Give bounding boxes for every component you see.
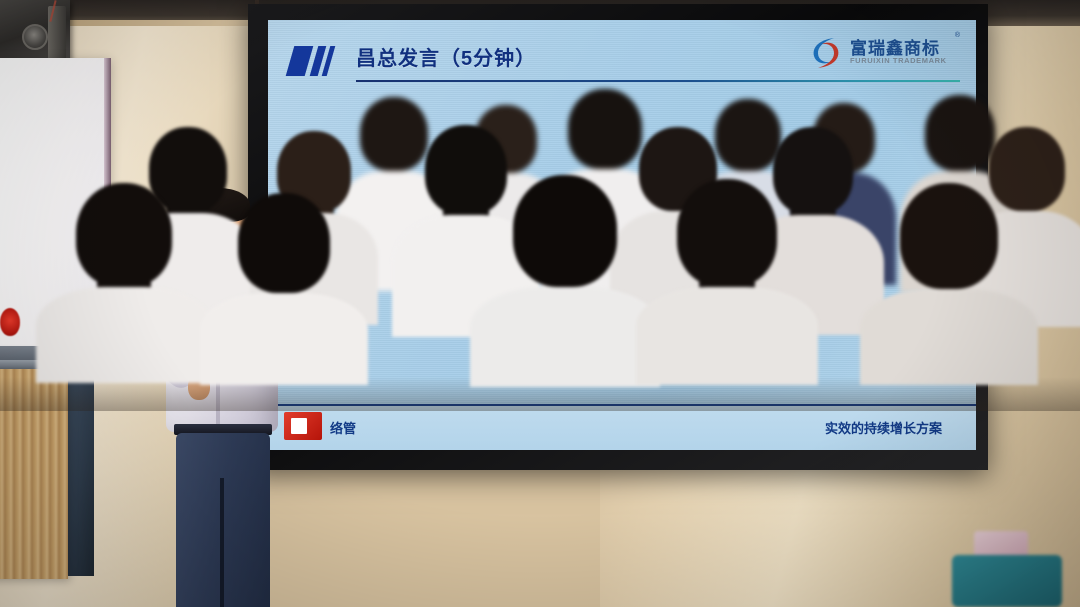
attendee-head: [900, 183, 998, 289]
attendee-q: [860, 183, 1038, 385]
company-name-en: FURUIXIN TRADEMARK: [850, 56, 947, 65]
teal-gift-box: [952, 555, 1062, 607]
slide-header-rule: [356, 80, 960, 82]
red-flower-icon: [0, 308, 20, 336]
attendee-head: [513, 175, 617, 287]
audience: [0, 377, 1080, 607]
attendee-p: [636, 179, 818, 385]
slide-header-title: 昌总发言（5分钟）: [356, 42, 536, 71]
attendee-head: [677, 179, 777, 287]
attendee-m: [36, 183, 212, 383]
attendee-head: [238, 193, 330, 293]
registered-mark-icon: ®: [955, 32, 960, 39]
presentation-scene: 昌总发言（5分钟） 富瑞鑫商标 FURUIXIN TRADEMARK ®: [0, 0, 1080, 607]
furuixin-swirl-logo-icon: [808, 34, 844, 72]
attendee-o: [470, 175, 660, 387]
attendee-shoulders: [200, 293, 368, 385]
speaker-cone: [22, 24, 48, 50]
attendee-shoulders: [860, 289, 1038, 385]
company-logo: 富瑞鑫商标 FURUIXIN TRADEMARK ®: [808, 32, 958, 76]
attendee-shoulders: [636, 287, 818, 385]
attendee-n: [200, 193, 368, 385]
attendee-head: [76, 183, 172, 287]
attendee-shoulders: [36, 287, 212, 383]
double-slash-icon: [290, 46, 346, 76]
attendee-shoulders: [470, 287, 660, 387]
